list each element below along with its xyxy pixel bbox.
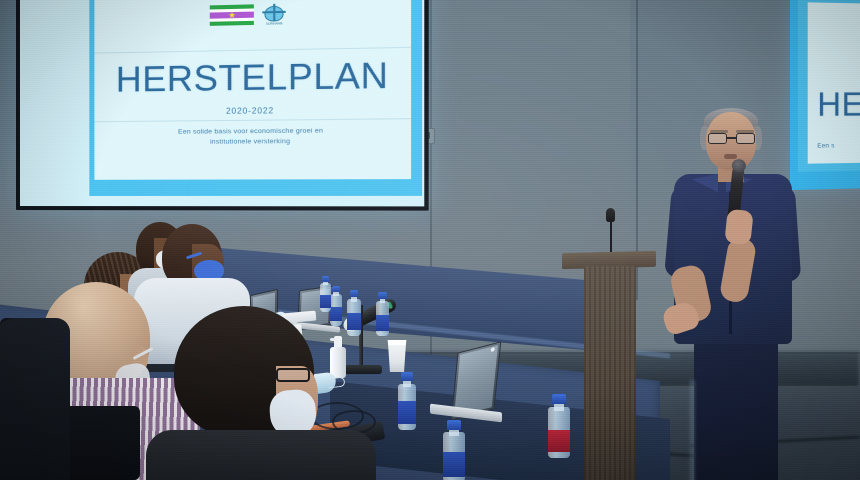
eyeglass-lens-left <box>708 133 727 144</box>
eyeglasses-icon <box>708 133 755 144</box>
attendee-torso <box>0 318 70 480</box>
microphone-head <box>731 158 746 172</box>
emblem-caption: SURINAME <box>258 21 290 26</box>
slide-border: REPUBLIEK SURINAME <box>90 0 422 196</box>
laptop <box>436 348 512 420</box>
suriname-emblem: REPUBLIEK SURINAME <box>202 0 299 34</box>
attendee-dark-hair-glasses <box>150 306 360 480</box>
screenshot-frame: REPUBLIEK SURINAME <box>0 0 860 480</box>
bottle-label <box>376 315 389 331</box>
attendee-torso <box>146 430 376 480</box>
chair <box>62 406 140 480</box>
bottle-label <box>443 452 465 477</box>
bottle-cap <box>378 292 386 299</box>
suriname-flag-icon <box>210 4 254 27</box>
emblem-row: SURINAME <box>210 1 290 28</box>
laptop-screen <box>454 345 498 417</box>
presentation-slide: REPUBLIEK SURINAME <box>20 0 424 206</box>
slide-content-card: REPUBLIEK SURINAME <box>95 0 411 180</box>
water-bottle <box>548 394 570 458</box>
water-bottle <box>443 420 465 480</box>
eyeglasses-icon <box>276 368 310 382</box>
slide-period: 2020-2022 <box>226 106 274 116</box>
slide-title: HERSTELPLAN <box>116 58 389 98</box>
attendee-silhouette <box>0 318 64 480</box>
lectern <box>566 252 652 480</box>
bottle-cap <box>401 372 413 381</box>
bottle-label <box>548 430 570 452</box>
presenter-mouth <box>724 154 737 159</box>
slide-divider <box>95 47 411 54</box>
bottle-cap <box>447 420 461 430</box>
gooseneck-microphone-stem <box>610 218 612 254</box>
eyeglass-bridge <box>727 137 736 139</box>
bottle-label <box>398 401 416 424</box>
eyeglass-lens-right <box>736 133 755 144</box>
presenter <box>650 108 830 480</box>
presenter-leg-highlight <box>690 380 695 480</box>
presenter-trousers <box>694 336 778 480</box>
slide-subtitle-line-2: institutionele versterking <box>210 138 290 146</box>
coat-of-arms-icon: SURINAME <box>258 1 290 27</box>
presenter-right-hand <box>724 209 753 246</box>
slide-subtitle-line-1: Een solide basis voor economische groei … <box>178 127 323 135</box>
bottle-cap <box>552 394 566 404</box>
projection-screen-left: REPUBLIEK SURINAME <box>16 0 429 211</box>
bottle-cap <box>332 286 340 292</box>
slide-subtitle: Een solide basis voor economische groei … <box>178 126 323 148</box>
bottle-cap <box>350 290 359 297</box>
screen-surface: REPUBLIEK SURINAME <box>20 0 424 206</box>
bottle-cap <box>322 276 329 282</box>
water-bottle <box>376 292 389 336</box>
water-bottle <box>398 372 416 430</box>
cup-rim <box>386 340 408 345</box>
slide-divider <box>95 118 411 122</box>
lectern-body <box>584 266 636 480</box>
